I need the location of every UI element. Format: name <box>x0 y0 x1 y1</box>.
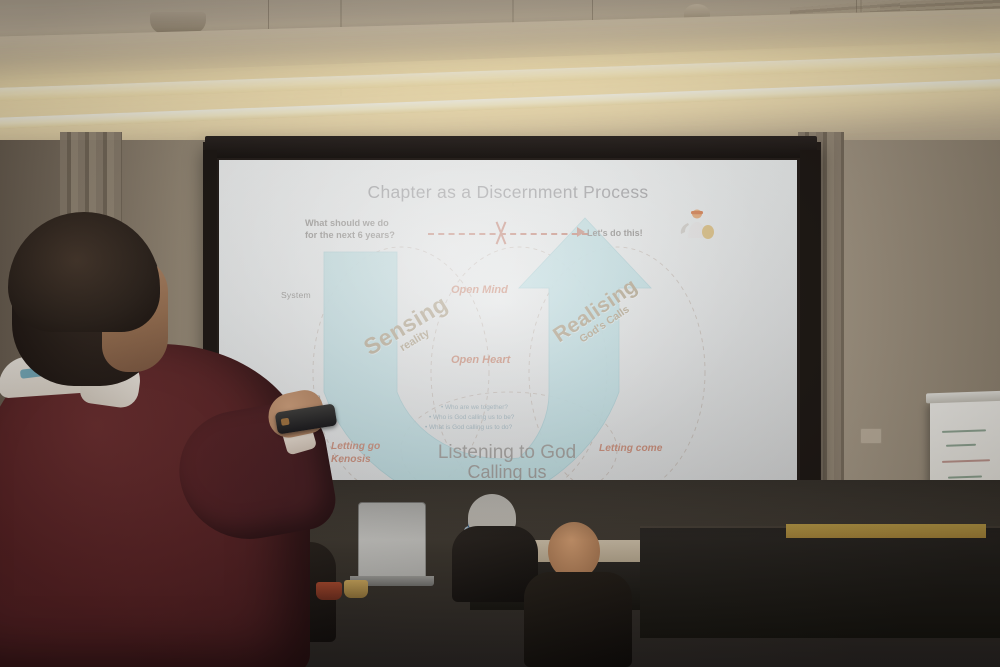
table-yellow-pad <box>786 524 986 538</box>
label-open-heart: Open Heart <box>451 354 510 366</box>
bullet-item: • What is God calling us to do? <box>425 423 575 433</box>
laptop-screen <box>358 502 426 580</box>
projection-screen-header <box>205 136 817 158</box>
conference-table <box>640 526 1000 638</box>
center-heading: Listening to God Calling us <box>407 443 607 482</box>
label-letting-go: Letting go Kenosis <box>331 440 380 467</box>
torso <box>524 572 632 667</box>
arrow-head-icon <box>577 227 585 237</box>
arrow-end-label: Let's do this! <box>587 228 643 238</box>
letting-go-line-1: Letting go <box>331 440 380 453</box>
bullet-item: • Who is God calling us to be? <box>425 413 575 423</box>
flipchart-writing <box>942 429 986 433</box>
bullet-item: • Who are we together? <box>425 403 575 413</box>
wall-socket <box>860 428 882 444</box>
screenshot-root: Chapter as a Discernment Process What sh… <box>0 0 1000 667</box>
clicker-indicator <box>281 418 290 426</box>
person-clipart-icon <box>675 208 715 240</box>
center-bullet-list: • Who are we together? • Who is God call… <box>425 403 575 433</box>
flipchart-writing <box>948 475 982 478</box>
flipchart-clamp <box>926 391 1000 404</box>
label-open-mind: Open Mind <box>451 284 508 296</box>
presenter <box>0 212 330 667</box>
center-heading-line-1: Listening to God <box>438 442 576 463</box>
cross-out-x-icon <box>491 222 511 244</box>
cup <box>344 580 368 598</box>
flipchart-writing <box>946 444 976 447</box>
slide-title: Chapter as a Discernment Process <box>219 182 797 203</box>
flipchart-writing <box>942 459 990 463</box>
presenter-hair <box>8 212 160 332</box>
letting-go-line-2: Kenosis <box>331 453 380 466</box>
label-letting-come: Letting come <box>599 442 662 455</box>
projection-screen-edge <box>800 150 820 532</box>
